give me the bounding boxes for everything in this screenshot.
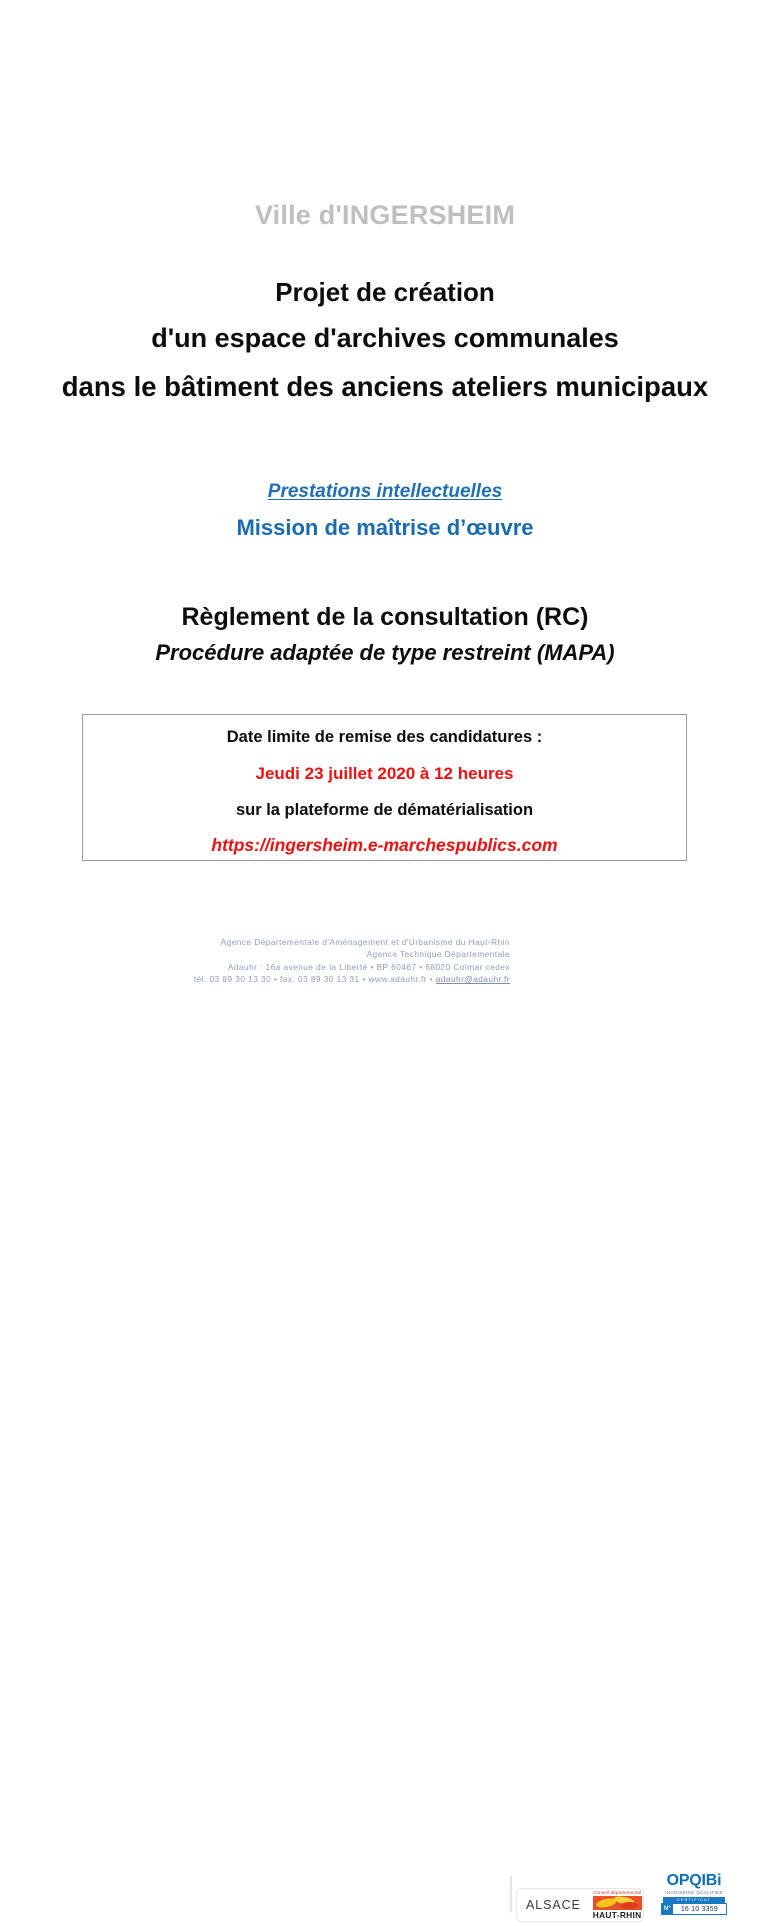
deadline-platform-url[interactable]: https://ingersheim.e-marchespublics.com: [83, 837, 686, 855]
opqibi-subtitle-text: INGÉNIERIE QUALIFIÉE: [652, 1889, 736, 1896]
opqibi-number-value: 16 10 3359: [673, 1904, 726, 1914]
footer-email-link[interactable]: adauhr@adauhr.fr: [436, 974, 510, 984]
page-footer: Agence Départementale d'Aménagement et d…: [0, 936, 770, 996]
organisation-title: Ville d'INGERSHEIM: [0, 200, 770, 231]
alsace-logo-text: ALSACE: [517, 1898, 589, 1912]
opqibi-logo: OPQIBi INGÉNIERIE QUALIFIÉE CERTIFICAT N…: [652, 1872, 736, 1922]
alsace-haut-rhin-logo: ALSACE Conseil départemental HAUT-RHIN: [516, 1888, 644, 1922]
project-title-line-2: d'un espace d'archives communales: [0, 325, 770, 352]
opqibi-certificate-number: N° 16 10 3359: [661, 1903, 727, 1915]
footer-agency-info: Agence Départementale d'Aménagement et d…: [40, 936, 510, 986]
mission-block: Prestations intellectuelles Mission de m…: [0, 482, 770, 540]
mission-label: Mission de maîtrise d’œuvre: [0, 516, 770, 540]
document-type-title: Règlement de la consultation (RC): [0, 604, 770, 630]
footer-logos: ALSACE Conseil départemental HAUT-RHIN O…: [516, 1868, 760, 1926]
footer-line-3: Adauhr : 16a avenue de la Liberté • BP 6…: [40, 961, 510, 973]
footer-line-2: Agence Technique Départementale: [40, 948, 510, 960]
deadline-title: Date limite de remise des candidatures :: [83, 729, 686, 746]
deadline-box: Date limite de remise des candidatures :…: [82, 714, 687, 861]
project-title-block: Projet de création d'un espace d'archive…: [0, 279, 770, 401]
prestations-label: Prestations intellectuelles: [0, 482, 770, 503]
project-title-line-3: dans le bâtiment des anciens ateliers mu…: [0, 373, 770, 401]
haut-rhin-name-text: HAUT-RHIN: [593, 1910, 642, 1920]
deadline-platform-text: sur la plateforme de dématérialisation: [83, 802, 686, 819]
footer-line-4: tél. 03 89 30 13 30 • fax. 03 89 30 13 3…: [40, 973, 510, 985]
footer-line-1: Agence Départementale d'Aménagement et d…: [40, 936, 510, 948]
deadline-date: Jeudi 23 juillet 2020 à 12 heures: [83, 765, 686, 782]
document-type-block: Règlement de la consultation (RC) Procéd…: [0, 604, 770, 664]
opqibi-name-text: OPQIBi: [652, 1872, 736, 1889]
haut-rhin-logo: Conseil départemental HAUT-RHIN: [589, 1889, 645, 1921]
procedure-label: Procédure adaptée de type restreint (MAP…: [0, 641, 770, 664]
haut-rhin-emblem-icon: [593, 1896, 642, 1910]
footer-contact-text: tél. 03 89 30 13 30 • fax. 03 89 30 13 3…: [194, 974, 436, 984]
opqibi-number-prefix: N°: [662, 1904, 673, 1914]
project-title-line-1: Projet de création: [0, 279, 770, 305]
logo-separator: [510, 1876, 512, 1912]
document-page: Ville d'INGERSHEIM Projet de création d'…: [0, 0, 770, 1024]
